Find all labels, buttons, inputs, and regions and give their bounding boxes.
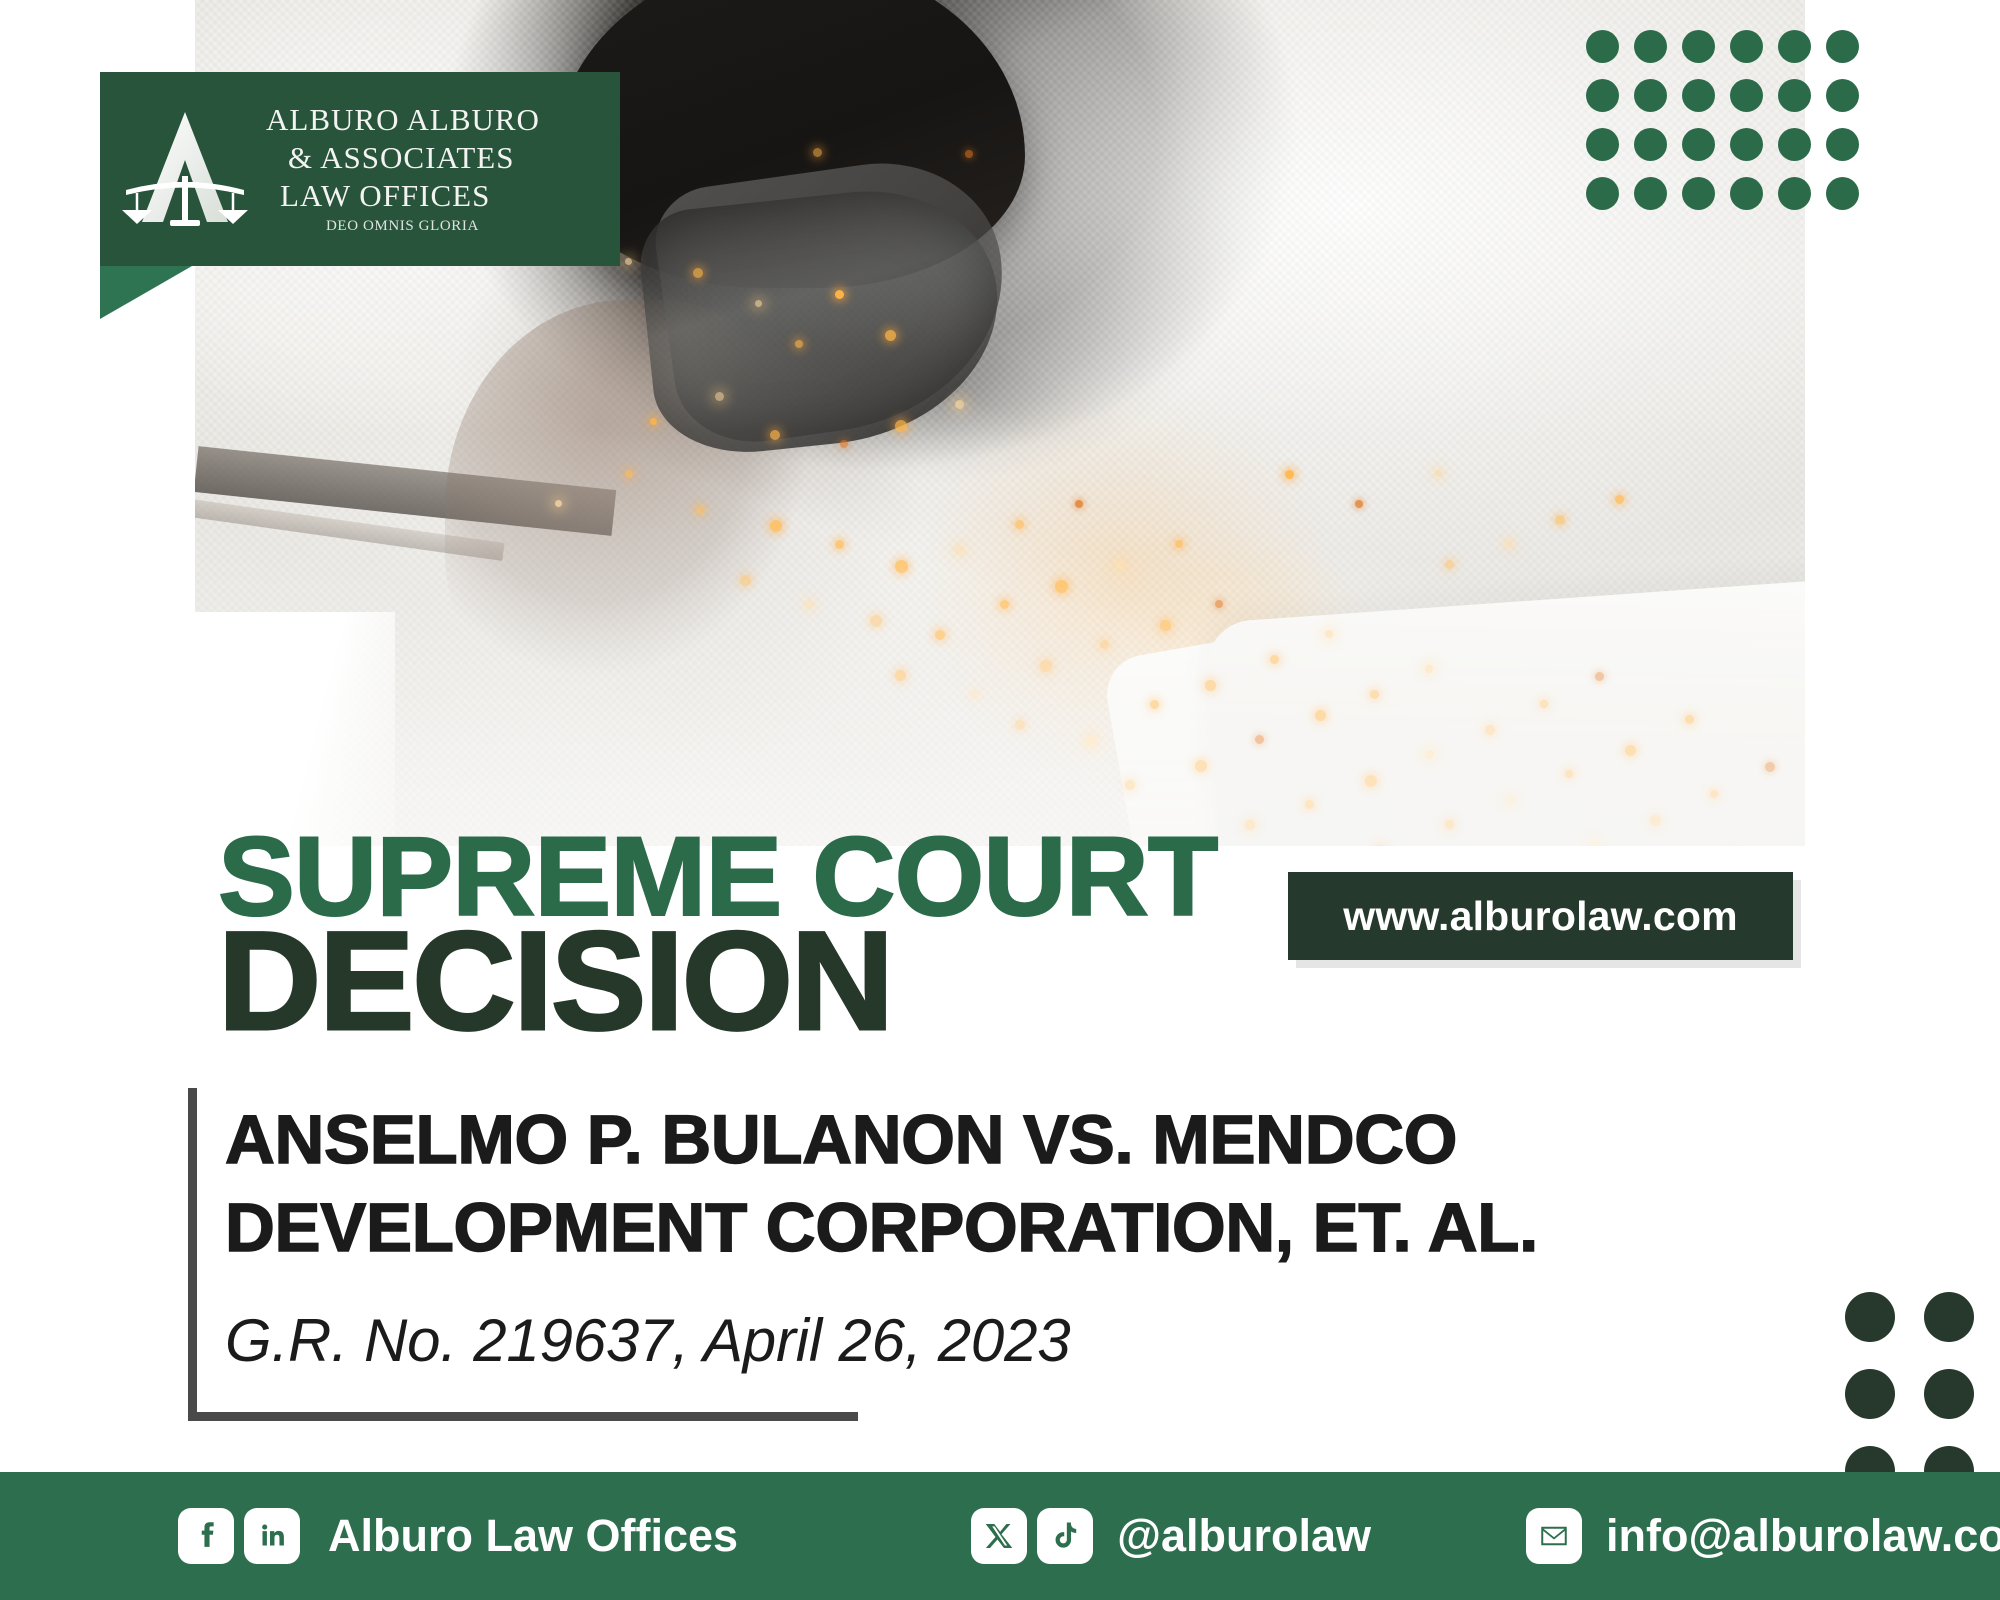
decorative-dot [1586,79,1619,112]
footer-group-social: Alburo Law Offices [178,1508,738,1564]
footer-group-handles: @alburolaw [971,1508,1371,1564]
decorative-dot [1682,30,1715,63]
decorative-dot [1634,177,1667,210]
decorative-dot [1826,177,1859,210]
footer-group-email: info@alburolaw.com [1526,1508,2000,1564]
decorative-dot [1586,177,1619,210]
spark-particle [965,150,973,158]
decorative-dot [1845,1369,1895,1419]
decorative-dot [1826,30,1859,63]
decorative-dot-grid-top-right [1586,30,1874,226]
decorative-dot [1634,79,1667,112]
decorative-dot [1586,30,1619,63]
case-title: ANSELMO P. BULANON VS. MENDCO DEVELOPMEN… [225,1096,1745,1273]
decorative-dot [1778,79,1811,112]
spark-particle [755,300,762,307]
logo-line-3: LAW OFFICES [266,180,540,211]
scales-of-justice-a-monogram-icon [110,94,260,244]
spark-particle [650,418,657,425]
website-url: www.alburolaw.com [1343,893,1737,940]
decorative-dot [1730,128,1763,161]
decorative-dot [1730,30,1763,63]
facebook-icon[interactable] [178,1508,234,1564]
decorative-dot [1778,128,1811,161]
email-icon[interactable] [1526,1508,1582,1564]
spark-particle [795,340,803,348]
case-citation: G.R. No. 219637, April 26, 2023 [225,1306,1070,1375]
website-badge[interactable]: www.alburolaw.com [1288,872,1793,960]
case-block-bottom-rule [188,1412,858,1421]
page-title: DECISION [218,900,892,1062]
x-twitter-icon[interactable] [971,1508,1027,1564]
linkedin-icon[interactable] [244,1508,300,1564]
decorative-dot [1826,128,1859,161]
decorative-dot [1682,79,1715,112]
decorative-dot [1924,1292,1974,1342]
logo-badge: ALBURO ALBURO & ASSOCIATES LAW OFFICES D… [100,72,620,266]
decorative-dot [1634,128,1667,161]
decorative-dot [1845,1292,1895,1342]
case-block-left-rule [188,1088,197,1418]
spark-particle [955,400,964,409]
footer-social-label: Alburo Law Offices [328,1510,738,1562]
spark-particle [813,148,822,157]
footer-bar: Alburo Law Offices @alburolaw info@albur… [0,1472,2000,1600]
footer-email-label: info@alburolaw.com [1606,1510,2000,1562]
tiktok-icon[interactable] [1037,1508,1093,1564]
decorative-dot [1730,79,1763,112]
decorative-dot [1586,128,1619,161]
decorative-dot [1730,177,1763,210]
decorative-dot [1826,79,1859,112]
logo-line-1: ALBURO ALBURO [266,104,540,135]
decorative-dot [1778,30,1811,63]
decorative-dot [1682,177,1715,210]
spark-particle [693,268,703,278]
logo-line-2: & ASSOCIATES [266,142,540,173]
spark-particle [625,258,632,265]
decorative-dot [1924,1369,1974,1419]
decorative-dot [1634,30,1667,63]
footer-handle-label: @alburolaw [1117,1510,1371,1562]
spark-particle [885,330,896,341]
logo-badge-fold [100,266,192,319]
logo-motto: DEO OMNIS GLORIA [266,219,540,234]
spark-particle [835,290,844,299]
decorative-dot [1778,177,1811,210]
spark-particle [715,392,724,401]
decorative-dot [1682,128,1715,161]
